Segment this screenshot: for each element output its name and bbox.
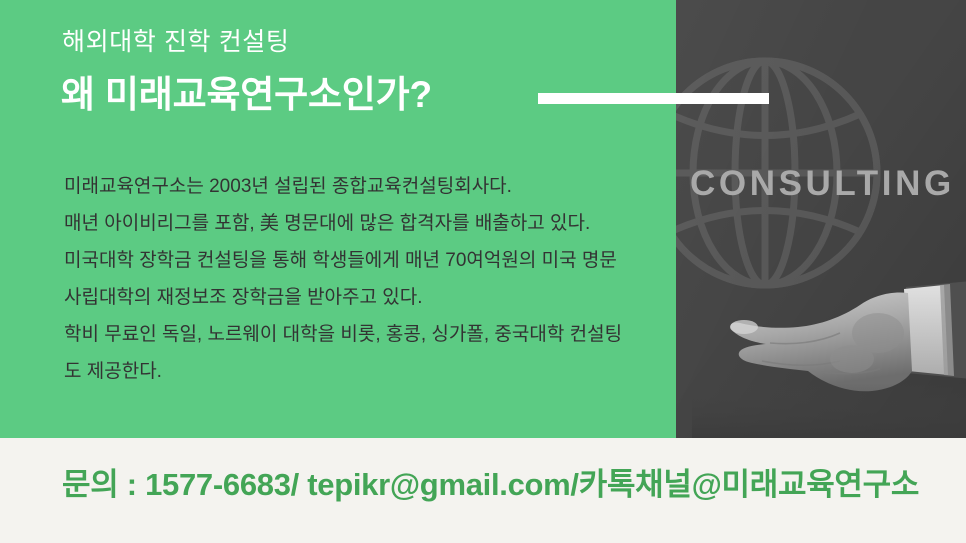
body-copy: 미래교육연구소는 2003년 설립된 종합교육컨설팅회사다. 매년 아이비리그를… bbox=[64, 168, 664, 390]
contact-bar: 문의 : 1577-6683/ tepikr@gmail.com/카톡채널@미래… bbox=[0, 438, 966, 543]
body-line: 미국대학 장학금 컨설팅을 통해 학생들에게 매년 70여억원의 미국 명문 bbox=[64, 242, 664, 279]
body-line: 매년 아이비리그를 포함, 美 명문대에 많은 합격자를 배출하고 있다. bbox=[64, 205, 664, 242]
contact-info[interactable]: 문의 : 1577-6683/ tepikr@gmail.com/카톡채널@미래… bbox=[62, 466, 919, 503]
body-line: 학비 무료인 독일, 노르웨이 대학을 비롯, 홍콩, 싱가폴, 중국대학 컨설… bbox=[64, 316, 664, 353]
dark-graphic-panel: CONSULTING bbox=[676, 0, 966, 438]
body-line: 미래교육연구소는 2003년 설립된 종합교육컨설팅회사다. bbox=[64, 168, 664, 205]
consulting-wordmark: CONSULTING bbox=[690, 166, 966, 201]
body-line: 도 제공한다. bbox=[64, 353, 664, 390]
open-hand-photo bbox=[692, 263, 966, 438]
promotional-banner: CONSULTING bbox=[0, 0, 966, 543]
body-line: 사립대학의 재정보조 장학금을 받아주고 있다. bbox=[64, 279, 664, 316]
accent-rule bbox=[538, 93, 769, 104]
eyebrow-text: 해외대학 진학 컨설팅 bbox=[62, 27, 290, 58]
page-title: 왜 미래교육연구소인가? bbox=[61, 72, 432, 118]
